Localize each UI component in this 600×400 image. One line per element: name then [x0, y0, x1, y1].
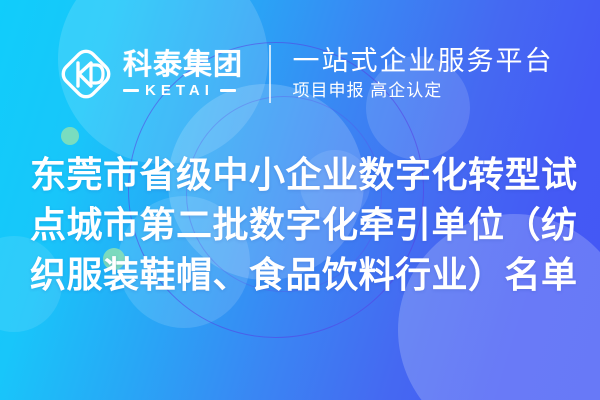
ketai-kd-monogram-icon: [58, 45, 114, 103]
banner-header: 科泰集团 KETAI 一站式企业服务平台 项目申报 高企认定: [0, 38, 600, 110]
promo-banner: 科泰集团 KETAI 一站式企业服务平台 项目申报 高企认定 东莞市省级中小企业…: [0, 0, 600, 400]
brand-logo[interactable]: 科泰集团 KETAI: [58, 45, 243, 103]
brand-name-en: KETAI: [145, 83, 214, 98]
brand-wordmark: 科泰集团 KETAI: [123, 50, 243, 99]
page-title: 东莞市省级中小企业数字化转型试 点城市第二批数字化牵引单位（纺 织服装鞋帽、食品…: [30, 150, 570, 300]
decorative-dot: [61, 127, 79, 145]
brand-name-en-row: KETAI: [123, 83, 243, 98]
wordmark-rule-right: [220, 89, 236, 92]
page-title-line-2: 点城市第二批数字化牵引单位（纺: [30, 200, 570, 250]
page-title-line-1: 东莞市省级中小企业数字化转型试: [30, 150, 570, 200]
tagline-secondary: 项目申报 高企认定: [293, 80, 554, 102]
header-divider: [269, 45, 271, 103]
tagline-block: 一站式企业服务平台 项目申报 高企认定: [293, 46, 554, 102]
tagline-primary: 一站式企业服务平台: [293, 46, 554, 76]
page-title-line-3: 织服装鞋帽、食品饮料行业）名单: [30, 250, 570, 300]
wordmark-rule-left: [123, 89, 139, 92]
brand-name-cn: 科泰集团: [123, 50, 243, 81]
